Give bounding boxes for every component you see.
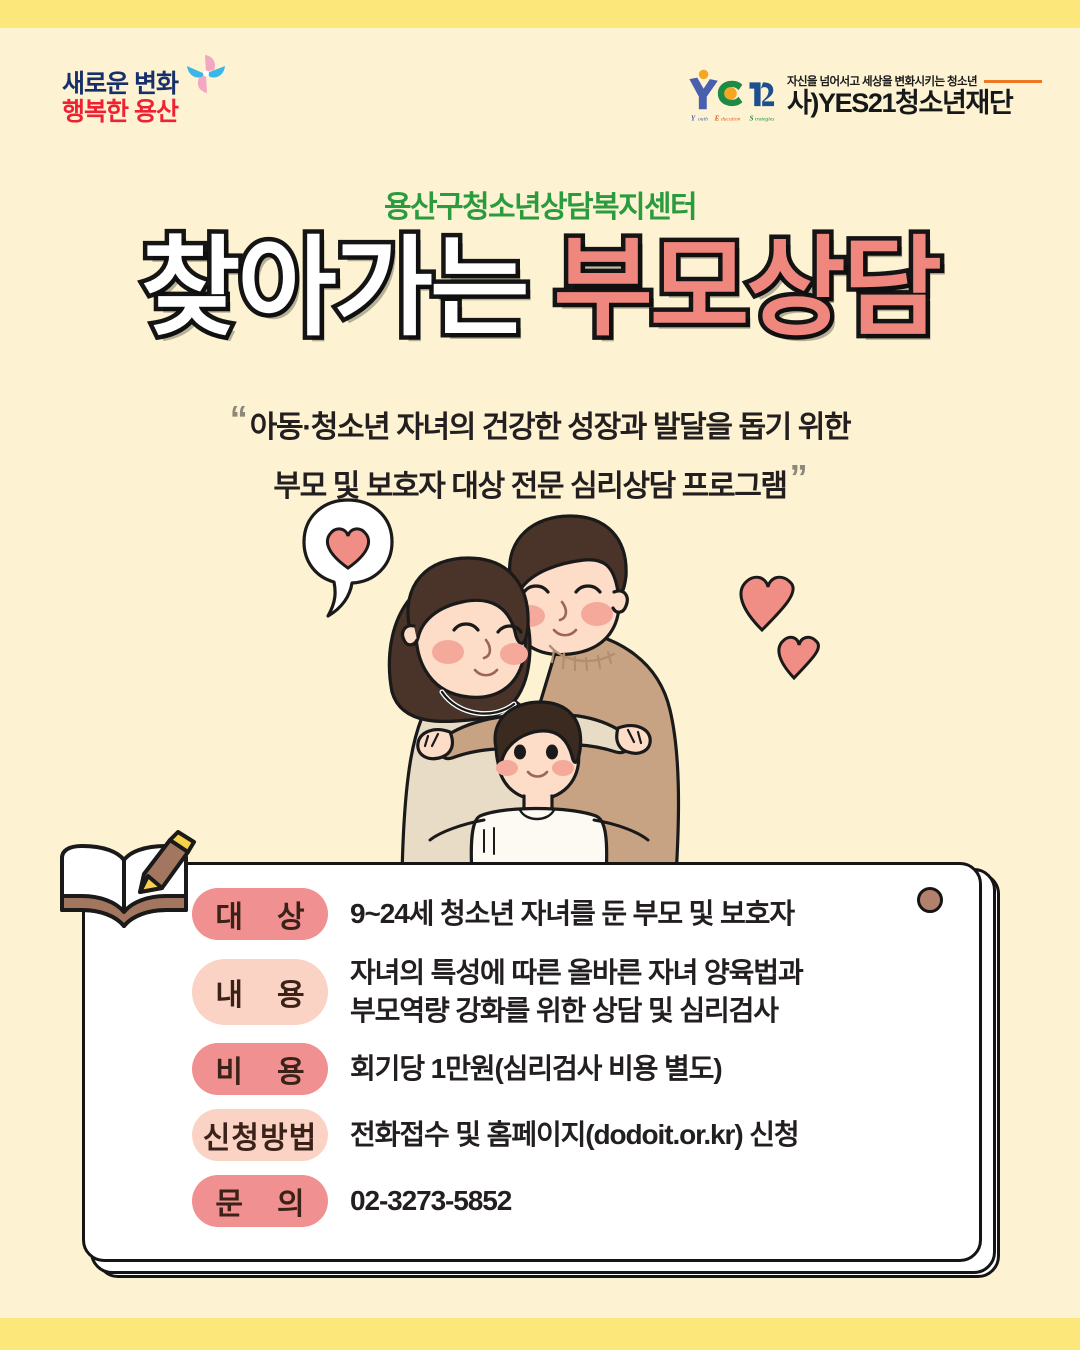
row-label-contact-ch1: 문 bbox=[215, 1179, 243, 1223]
yes21-tagline: 자신을 넘어서고 세상을 변화시키는 청소년 bbox=[787, 73, 977, 89]
row-value-apply: 전화접수 및 홈페이지(dodoit.or.kr) 신청 bbox=[350, 1116, 799, 1154]
center-organization-label: 용산구청소년상담복지센터 bbox=[0, 182, 1080, 226]
row-label-apply: 신청방법 bbox=[192, 1109, 328, 1161]
row-label-content-ch2: 용 bbox=[277, 970, 305, 1014]
info-row-content: 내용 자녀의 특성에 따른 올바른 자녀 양육법과 부모역량 강화를 위한 상담… bbox=[192, 954, 952, 1029]
svg-text:S: S bbox=[749, 114, 753, 122]
row-value-target: 9~24세 청소년 자녀를 둔 부모 및 보호자 bbox=[350, 895, 794, 933]
yes21-mark-icon: Y outh E ducation S trategies bbox=[683, 66, 778, 124]
subtitle-line1: 아동·청소년 자녀의 건강한 성장과 발달을 돕기 위한 bbox=[250, 411, 850, 444]
svg-text:Y: Y bbox=[691, 114, 696, 122]
page-title: 찾아가는 부모상담 bbox=[0, 228, 1080, 349]
row-value-content-l2: 부모역량 강화를 위한 상담 및 심리검사 bbox=[350, 992, 803, 1030]
info-row-cost: 비용 회기당 1만원(심리검사 비용 별도) bbox=[192, 1043, 952, 1095]
row-value-contact: 02-3273-5852 bbox=[350, 1182, 511, 1220]
info-row-target: 대상 9~24세 청소년 자녀를 둔 부모 및 보호자 bbox=[192, 888, 952, 940]
svg-text:outh: outh bbox=[698, 116, 708, 122]
row-value-cost-l1: 회기당 1만원(심리검사 비용 별도) bbox=[350, 1053, 722, 1084]
row-label-contact: 문의 bbox=[192, 1175, 328, 1227]
row-label-cost-ch2: 용 bbox=[277, 1047, 305, 1091]
heart-speech-bubble bbox=[304, 500, 392, 616]
quote-open-icon: “ bbox=[230, 398, 247, 439]
row-label-contact-ch2: 의 bbox=[277, 1179, 305, 1223]
svg-text:trategies: trategies bbox=[755, 116, 774, 122]
poster-root: 새로운 변화 행복한 용산 Y outh E ducation S trateg… bbox=[0, 0, 1080, 1350]
info-row-apply: 신청방법 전화접수 및 홈페이지(dodoit.or.kr) 신청 bbox=[192, 1109, 952, 1161]
yes21-logo: Y outh E ducation S trategies 자신을 넘어서고 세… bbox=[683, 66, 1042, 124]
top-yellow-band bbox=[0, 0, 1080, 28]
page-title-part1: 찾아가는 bbox=[141, 227, 526, 348]
row-label-content: 내용 bbox=[192, 959, 328, 1025]
yes21-rule bbox=[984, 80, 1042, 83]
row-label-cost-ch1: 비 bbox=[215, 1047, 243, 1091]
family-hug-illustration bbox=[262, 480, 822, 900]
heart-icon-small bbox=[779, 637, 819, 678]
heart-icon-large bbox=[741, 577, 793, 630]
row-label-target-ch2: 상 bbox=[277, 892, 305, 936]
yongsan-logo: 새로운 변화 행복한 용산 bbox=[62, 70, 322, 150]
info-rows: 대상 9~24세 청소년 자녀를 둔 부모 및 보호자 내용 자녀의 특성에 따… bbox=[82, 862, 982, 1262]
row-label-content-ch1: 내 bbox=[215, 970, 243, 1014]
page-title-part2: 부모상담 bbox=[554, 227, 939, 348]
svg-text:ducation: ducation bbox=[721, 116, 741, 122]
pinwheel-icon bbox=[184, 52, 228, 96]
yes21-tagline-row: 자신을 넘어서고 세상을 변화시키는 청소년 bbox=[787, 73, 1042, 89]
info-row-contact: 문의 02-3273-5852 bbox=[192, 1175, 952, 1227]
row-value-apply-l1: 전화접수 및 홈페이지(dodoit.or.kr) 신청 bbox=[350, 1119, 799, 1150]
svg-text:E: E bbox=[714, 114, 720, 122]
row-value-cost: 회기당 1만원(심리검사 비용 별도) bbox=[350, 1050, 722, 1088]
row-value-content: 자녀의 특성에 따른 올바른 자녀 양육법과 부모역량 강화를 위한 상담 및 … bbox=[350, 954, 803, 1029]
yes21-foundation-name: 사)YES21청소년재단 bbox=[787, 90, 1042, 117]
yes21-text-block: 자신을 넘어서고 세상을 변화시키는 청소년 사)YES21청소년재단 bbox=[787, 73, 1042, 117]
row-value-content-l1: 자녀의 특성에 따른 올바른 자녀 양육법과 bbox=[350, 954, 803, 992]
bottom-yellow-band bbox=[0, 1318, 1080, 1350]
row-label-target-ch1: 대 bbox=[215, 892, 243, 936]
row-label-cost: 비용 bbox=[192, 1043, 328, 1095]
row-value-target-l1: 9~24세 청소년 자녀를 둔 부모 및 보호자 bbox=[350, 898, 794, 929]
row-value-contact-l1: 02-3273-5852 bbox=[350, 1185, 511, 1216]
subtitle-line1-wrap: “아동·청소년 자녀의 건강한 성장과 발달을 돕기 위한 bbox=[0, 392, 1080, 451]
yongsan-logo-line2: 행복한 용산 bbox=[62, 98, 322, 126]
row-label-target: 대상 bbox=[192, 888, 328, 940]
